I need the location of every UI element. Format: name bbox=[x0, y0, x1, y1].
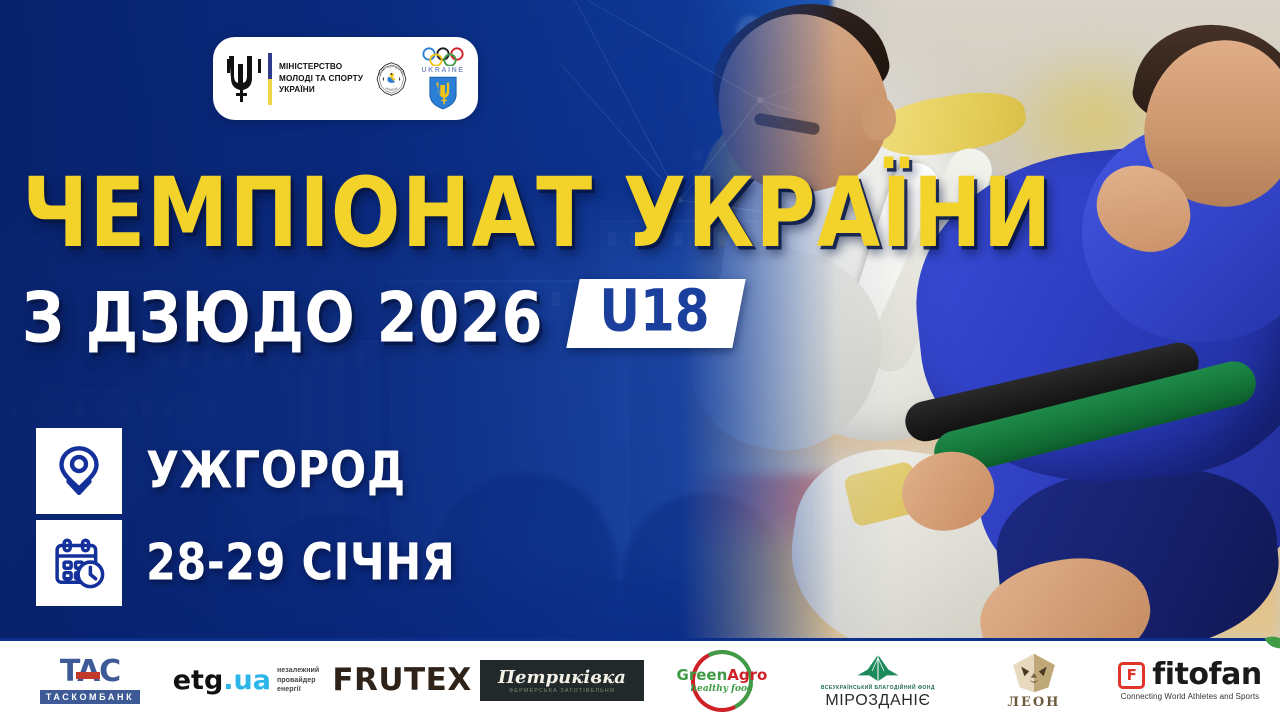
event-discipline-year: З ДЗЮДО 2026 bbox=[22, 285, 543, 351]
leaf-mark-icon bbox=[856, 653, 900, 683]
noc-shield-icon bbox=[427, 75, 459, 110]
date-icon-box bbox=[36, 520, 122, 606]
etg-tagline-3: енергії bbox=[277, 685, 319, 694]
sponsor-leon[interactable]: ЛЕОН bbox=[956, 650, 1112, 712]
petrykivka-tagline: фермерська заготівельня bbox=[509, 688, 615, 694]
greenagro-word-1: Green bbox=[677, 666, 728, 684]
etg-tagline: незалежний провайдер енергії bbox=[277, 666, 319, 694]
fitofan-tagline: Connecting World Athletes and Sports bbox=[1121, 692, 1260, 701]
frutex-label: FRUTEX bbox=[332, 665, 471, 696]
ministry-line-3: УКРАЇНИ bbox=[279, 84, 363, 96]
date-row: 28-29 СІЧНЯ bbox=[36, 520, 455, 606]
poster-headline: ЧЕМПІОНАТ УКРАЇНИ З ДЗЮДО 2026 U18 bbox=[22, 168, 1013, 348]
ministry-line-2: МОЛОДІ ТА СПОРТУ bbox=[279, 73, 363, 85]
sponsor-tascombank[interactable]: TAC ТАСКОМБАНК bbox=[12, 650, 168, 712]
location-row: УЖГОРОД bbox=[36, 428, 455, 514]
sponsor-bar: TAC ТАСКОМБАНК etg.ua незалежний провайд… bbox=[0, 638, 1280, 720]
calendar-clock-icon bbox=[51, 535, 107, 591]
ministry-name: МІНІСТЕРСТВО МОЛОДІ ТА СПОРТУ УКРАЇНИ bbox=[279, 61, 363, 96]
sponsor-etg-ua[interactable]: etg.ua незалежний провайдер енергії bbox=[168, 650, 324, 712]
etg-tagline-2: провайдер bbox=[277, 676, 319, 685]
petrykivka-box: Петриківка фермерська заготівельня bbox=[480, 660, 644, 701]
sponsor-frutex[interactable]: FRUTEX bbox=[324, 650, 480, 712]
event-details: УЖГОРОД bbox=[36, 428, 455, 606]
lion-head-icon bbox=[1010, 652, 1058, 694]
location-value: УЖГОРОД bbox=[146, 442, 406, 501]
etg-tagline-1: незалежний bbox=[277, 666, 319, 675]
fitofan-mark-icon: F bbox=[1118, 662, 1145, 689]
location-icon-box bbox=[36, 428, 122, 514]
olympic-rings-icon bbox=[420, 47, 466, 67]
olympic-committee-logo: UKRAINE bbox=[420, 47, 466, 111]
event-title: ЧЕМПІОНАТ УКРАЇНИ bbox=[22, 168, 1053, 260]
ministry-line-1: МІНІСТЕРСТВО bbox=[279, 61, 363, 73]
tascombank-label: ТАСКОМБАНК bbox=[40, 690, 140, 705]
greenagro-label: GreenAgro bbox=[677, 668, 768, 683]
etg-word: etg bbox=[173, 665, 224, 696]
date-value: 28-29 СІЧНЯ bbox=[146, 534, 455, 593]
tascombank-mark: TAC bbox=[60, 657, 120, 687]
sponsor-greenagro[interactable]: GreenAgro healthy food bbox=[644, 650, 800, 712]
petrykivka-label: Петриківка bbox=[498, 669, 626, 687]
fitofan-lockup: F fitofan bbox=[1118, 660, 1261, 690]
sponsor-petrykivka[interactable]: Петриківка фермерська заготівельня bbox=[480, 650, 644, 712]
event-poster: 0 0 0 0 3:00 bbox=[0, 0, 1280, 720]
etg-suffix: .ua bbox=[223, 665, 271, 696]
tryzub-icon bbox=[227, 53, 261, 105]
leon-label: ЛЕОН bbox=[1007, 696, 1060, 709]
age-category-label: U18 bbox=[599, 281, 709, 342]
sponsor-fitofan[interactable]: F fitofan Connecting World Athletes and … bbox=[1112, 650, 1268, 712]
sponsor-mirozdanie[interactable]: всеукраїнський благодійний фонд МІРОЗДАН… bbox=[800, 650, 956, 712]
ministry-logo: МІНІСТЕРСТВО МОЛОДІ ТА СПОРТУ УКРАЇНИ bbox=[227, 53, 363, 105]
greenagro-tagline: healthy food bbox=[691, 684, 754, 694]
age-category-badge: U18 bbox=[566, 279, 746, 348]
greenagro-word-2: Agro bbox=[727, 666, 767, 684]
event-subtitle-row: З ДЗЮДО 2026 U18 bbox=[22, 285, 1013, 348]
mirozdanie-label: МІРОЗДАНІЄ bbox=[825, 693, 930, 709]
mirozdanie-tagline: всеукраїнський благодійний фонд bbox=[821, 685, 935, 691]
ukraine-flag-bar bbox=[268, 53, 272, 105]
background-vignette bbox=[0, 0, 1280, 720]
organizer-logos: МІНІСТЕРСТВО МОЛОДІ ТА СПОРТУ УКРАЇНИ ФЕ… bbox=[213, 37, 478, 120]
fitofan-label: fitofan bbox=[1152, 660, 1261, 690]
location-pin-icon bbox=[51, 443, 107, 499]
etg-mark: etg.ua bbox=[173, 667, 271, 694]
olympic-country-label: UKRAINE bbox=[421, 67, 464, 74]
judo-federation-icon: ФЕДЕРАЦІЯ ДЗЮДО УКРАЇНИ bbox=[373, 50, 410, 108]
